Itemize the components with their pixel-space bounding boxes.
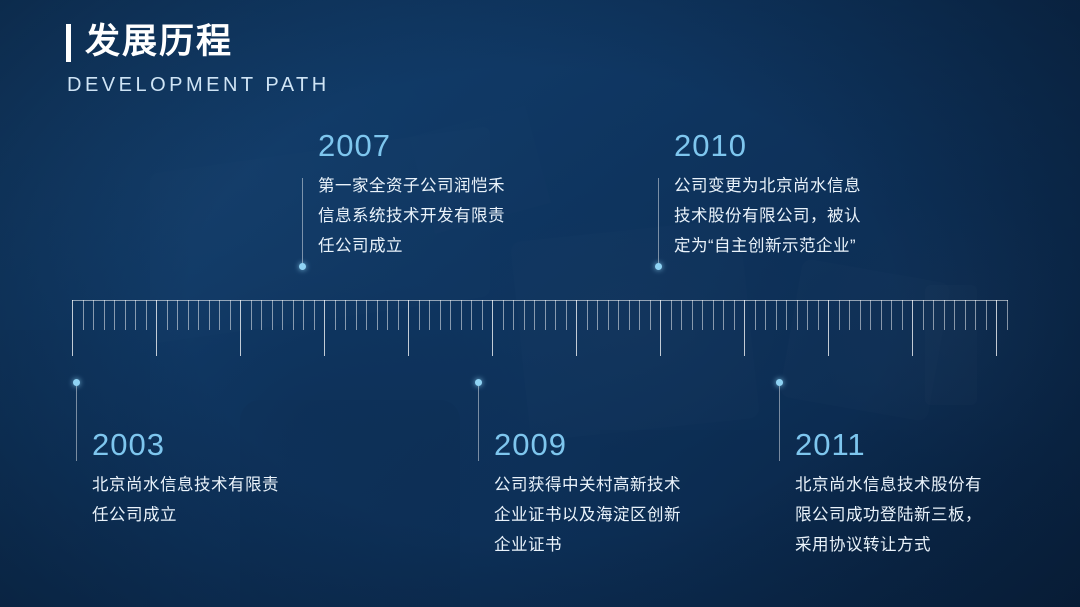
- ruler-tick: [198, 300, 199, 330]
- ruler-tick: [230, 300, 231, 330]
- ruler-tick: [828, 300, 829, 356]
- ruler-tick: [114, 300, 115, 330]
- timeline-description: 北京尚水信息技术有限责 任公司成立: [92, 470, 352, 530]
- timeline-year: 2010: [674, 129, 924, 163]
- ruler-tick: [944, 300, 945, 330]
- page-subtitle: DEVELOPMENT PATH: [67, 74, 330, 97]
- timeline-description: 第一家全资子公司润恺禾 信息系统技术开发有限责 任公司成立: [318, 171, 568, 261]
- ruler-tick: [723, 300, 724, 330]
- timeline-entry-2011: 2011 北京尚水信息技术股份有 限公司成功登陆新三板， 采用协议转让方式: [795, 428, 1045, 560]
- ruler-tick: [786, 300, 787, 330]
- ruler-tick: [125, 300, 126, 330]
- ruler-tick: [482, 300, 483, 330]
- ruler-tick: [261, 300, 262, 330]
- ruler-tick: [912, 300, 913, 356]
- ruler-tick: [188, 300, 189, 330]
- ruler-tick: [72, 300, 73, 356]
- ruler-tick: [534, 300, 535, 330]
- ruler-tick: [555, 300, 556, 330]
- stem-2010: [658, 178, 659, 266]
- ruler-tick: [975, 300, 976, 330]
- ruler-tick: [902, 300, 903, 330]
- ruler-tick: [398, 300, 399, 330]
- timeline-entry-2009: 2009 公司获得中关村高新技术 企业证书以及海淀区创新 企业证书: [494, 428, 744, 560]
- slide-header: 发展历程 DEVELOPMENT PATH: [66, 22, 330, 97]
- ruler-tick: [870, 300, 871, 330]
- ruler-tick: [797, 300, 798, 330]
- ruler-tick: [891, 300, 892, 330]
- dot-2009: [475, 379, 482, 386]
- timeline-description: 北京尚水信息技术股份有 限公司成功登陆新三板， 采用协议转让方式: [795, 470, 1045, 560]
- timeline-year: 2011: [795, 428, 1045, 462]
- ruler-tick: [986, 300, 987, 330]
- ruler-tick: [744, 300, 745, 356]
- dot-2007: [299, 263, 306, 270]
- ruler-tick: [471, 300, 472, 330]
- ruler-tick: [324, 300, 325, 356]
- ruler-tick: [240, 300, 241, 356]
- dot-2003: [73, 379, 80, 386]
- ruler-tick: [849, 300, 850, 330]
- timeline-description: 公司变更为北京尚水信息 技术股份有限公司，被认 定为“自主创新示范企业”: [674, 171, 924, 261]
- stem-2011: [779, 386, 780, 461]
- ruler-tick: [377, 300, 378, 330]
- ruler-tick: [492, 300, 493, 356]
- ruler-tick: [93, 300, 94, 330]
- ruler-tick: [713, 300, 714, 330]
- ruler-tick: [765, 300, 766, 330]
- ruler-tick: [524, 300, 525, 330]
- ruler-tick: [650, 300, 651, 330]
- ruler-tick: [503, 300, 504, 330]
- ruler-tick: [219, 300, 220, 330]
- ruler-tick: [408, 300, 409, 356]
- timeline-description: 公司获得中关村高新技术 企业证书以及海淀区创新 企业证书: [494, 470, 744, 560]
- timeline-year: 2007: [318, 129, 568, 163]
- ruler-tick: [135, 300, 136, 330]
- timeline-ruler: [72, 300, 1008, 360]
- ruler-tick: [156, 300, 157, 356]
- dot-2011: [776, 379, 783, 386]
- ruler-tick: [954, 300, 955, 330]
- timeline-entry-2010: 2010 公司变更为北京尚水信息 技术股份有限公司，被认 定为“自主创新示范企业…: [674, 129, 924, 261]
- ruler-tick: [734, 300, 735, 330]
- ruler-tick: [807, 300, 808, 330]
- ruler-tick: [440, 300, 441, 330]
- ruler-tick: [356, 300, 357, 330]
- ruler-tick: [387, 300, 388, 330]
- ruler-tick: [272, 300, 273, 330]
- ruler-tick: [429, 300, 430, 330]
- ruler-tick: [755, 300, 756, 330]
- ruler-tick: [104, 300, 105, 330]
- ruler-tick: [450, 300, 451, 330]
- ruler-tick: [513, 300, 514, 330]
- ruler-tick: [545, 300, 546, 330]
- ruler-tick: [209, 300, 210, 330]
- ruler-tick: [839, 300, 840, 330]
- ruler-tick: [923, 300, 924, 330]
- ruler-tick: [702, 300, 703, 330]
- ruler-tick: [83, 300, 84, 330]
- ruler-tick: [303, 300, 304, 330]
- ruler-tick: [566, 300, 567, 330]
- ruler-tick: [629, 300, 630, 330]
- ruler-tick: [576, 300, 577, 356]
- stem-2009: [478, 386, 479, 461]
- slide-root: 发展历程 DEVELOPMENT PATH 2007 第一家全资子公司润恺禾 信…: [0, 0, 1080, 607]
- ruler-tick: [282, 300, 283, 330]
- page-title: 发展历程: [85, 22, 233, 62]
- ruler-tick: [776, 300, 777, 330]
- ruler-tick: [366, 300, 367, 330]
- ruler-tick: [681, 300, 682, 330]
- title-row: 发展历程: [66, 22, 330, 62]
- stem-2007: [302, 178, 303, 266]
- ruler-tick: [419, 300, 420, 330]
- timeline-entry-2007: 2007 第一家全资子公司润恺禾 信息系统技术开发有限责 任公司成立: [318, 129, 568, 261]
- timeline-axis-line: [72, 300, 1008, 301]
- ruler-tick: [860, 300, 861, 330]
- timeline-entry-2003: 2003 北京尚水信息技术有限责 任公司成立: [92, 428, 352, 530]
- ruler-tick: [251, 300, 252, 330]
- ruler-tick: [146, 300, 147, 330]
- ruler-tick: [618, 300, 619, 330]
- title-accent-bar: [66, 24, 71, 62]
- ruler-tick: [671, 300, 672, 330]
- ruler-tick: [314, 300, 315, 330]
- ruler-tick: [996, 300, 997, 356]
- ruler-tick: [933, 300, 934, 330]
- ruler-tick: [597, 300, 598, 330]
- ruler-tick: [293, 300, 294, 330]
- ruler-tick: [335, 300, 336, 330]
- timeline-year: 2003: [92, 428, 352, 462]
- ruler-tick: [660, 300, 661, 356]
- ruler-tick: [608, 300, 609, 330]
- ruler-tick: [177, 300, 178, 330]
- ruler-tick: [965, 300, 966, 330]
- stem-2003: [76, 386, 77, 461]
- ruler-tick: [1007, 300, 1008, 330]
- ruler-tick: [818, 300, 819, 330]
- ruler-tick: [881, 300, 882, 330]
- ruler-tick: [345, 300, 346, 330]
- ruler-tick: [692, 300, 693, 330]
- dot-2010: [655, 263, 662, 270]
- ruler-tick: [639, 300, 640, 330]
- ruler-tick: [461, 300, 462, 330]
- ruler-tick: [587, 300, 588, 330]
- timeline-year: 2009: [494, 428, 744, 462]
- ruler-tick: [167, 300, 168, 330]
